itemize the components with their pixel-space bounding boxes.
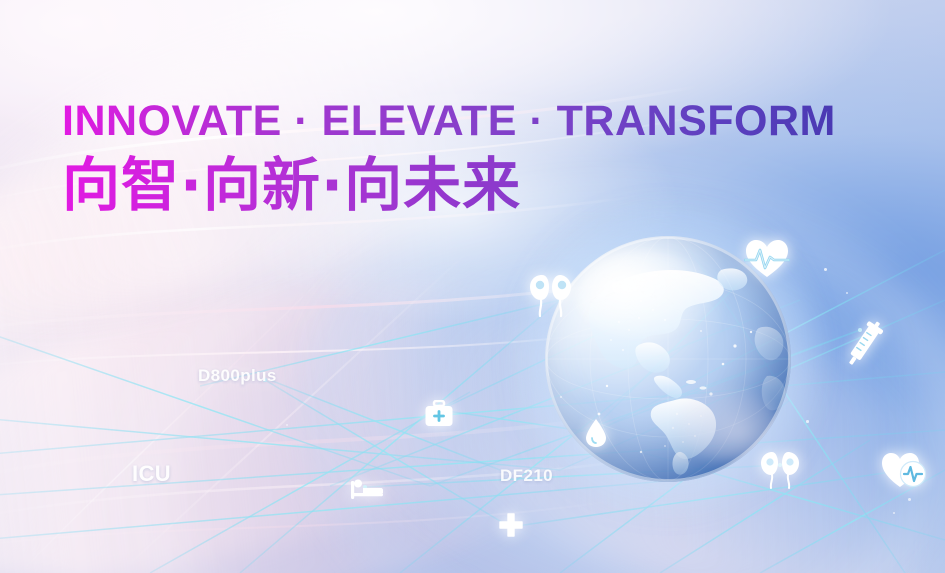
headline-block: INNOVATE · ELEVATE · TRANSFORM 向智·向新·向未来 bbox=[62, 96, 902, 218]
label-df210: DF210 bbox=[500, 466, 553, 486]
background-vignette bbox=[0, 0, 945, 573]
headline-chinese: 向智·向新·向未来 bbox=[62, 153, 902, 218]
label-icu: ICU bbox=[132, 461, 171, 487]
hero-banner: INNOVATE · ELEVATE · TRANSFORM 向智·向新·向未来… bbox=[0, 0, 945, 573]
label-d800plus: D800plus bbox=[198, 366, 277, 386]
headline-english: INNOVATE · ELEVATE · TRANSFORM bbox=[62, 96, 902, 147]
